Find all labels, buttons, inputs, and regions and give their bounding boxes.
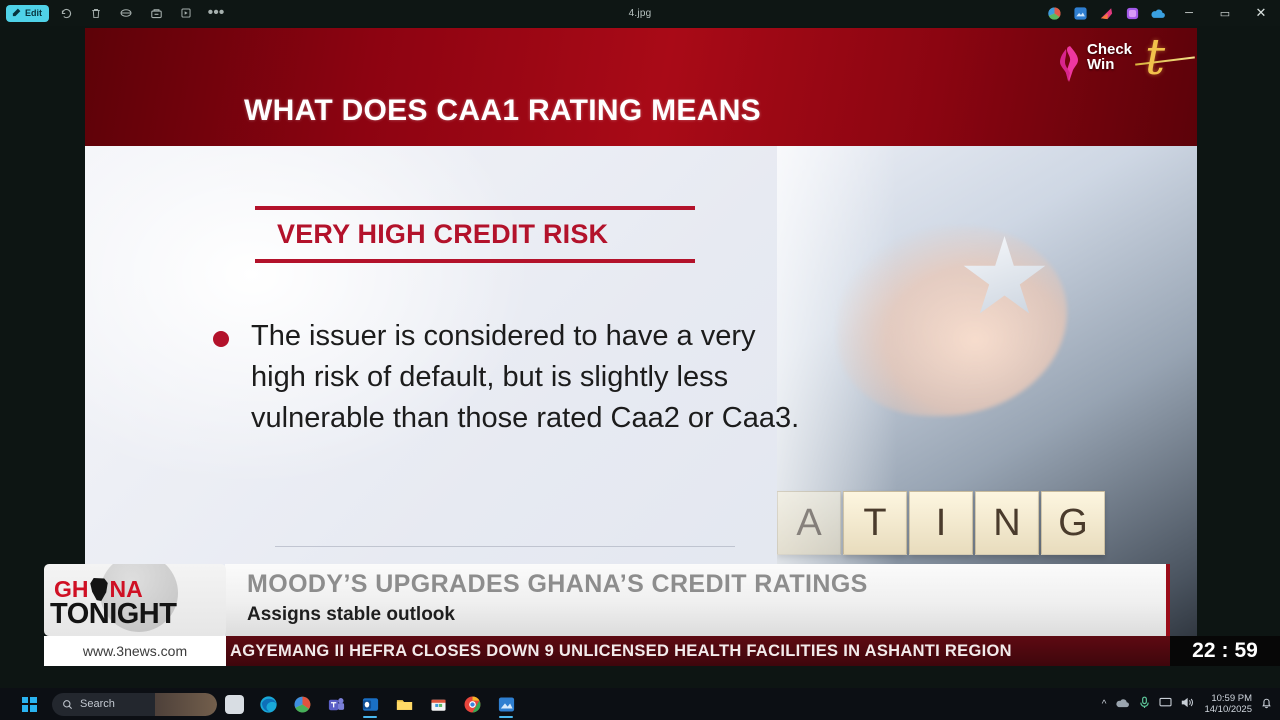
onedrive-icon[interactable] — [1115, 697, 1130, 712]
broadcast-clock: 22 : 59 — [1170, 636, 1280, 666]
edge-glyph — [259, 695, 278, 714]
image-viewer-window: Edit ••• — [0, 0, 1280, 720]
task-view-icon[interactable] — [217, 688, 251, 720]
letter-block: A — [777, 491, 841, 555]
pink-ribbon-icon — [1053, 42, 1087, 86]
copilot-glyph — [293, 695, 312, 714]
start-button[interactable] — [14, 688, 44, 720]
copilot-icon[interactable] — [285, 688, 319, 720]
clock-hours: 22 — [1192, 639, 1215, 663]
slide-divider — [275, 546, 735, 547]
store-icon[interactable] — [421, 688, 455, 720]
copilot-icon[interactable] — [1120, 1, 1144, 25]
slide-title: WHAT DOES CAA1 RATING MEANS — [244, 94, 761, 128]
ticker-text: AGYEMANG II HEFRA CLOSES DOWN 9 UNLICENS… — [226, 642, 1012, 661]
letter-block: G — [1041, 491, 1105, 555]
tray-datetime[interactable]: 10:59 PM 14/10/2025 — [1204, 693, 1252, 715]
news-subheadline: Assigns stable outlook — [247, 604, 455, 626]
news-ticker: AGYEMANG II HEFRA CLOSES DOWN 9 UNLICENS… — [226, 636, 1170, 666]
weather-widget[interactable] — [155, 693, 217, 716]
task-view-glyph — [225, 695, 244, 714]
bullet-dot-icon — [213, 331, 229, 347]
onedrive-icon[interactable] — [1146, 1, 1170, 25]
edge-icon[interactable] — [251, 688, 285, 720]
hand-graphic — [837, 226, 1067, 416]
search-placeholder: Search — [80, 698, 115, 710]
tray-date: 14/10/2025 — [1204, 704, 1252, 715]
check-win-logo: Check Win t — [1047, 36, 1187, 94]
bullet-item: The issuer is considered to have a very … — [213, 316, 813, 439]
photos-glyph — [497, 695, 516, 714]
logo-line-2: Win — [1087, 57, 1132, 72]
letter-block: I — [909, 491, 973, 555]
outlook-glyph — [361, 695, 380, 714]
windows-taskbar: Search — [0, 688, 1280, 720]
windows-logo-icon — [22, 697, 37, 712]
news-card: MOODY’S UPGRADES GHANA’S CREDIT RATINGS … — [225, 564, 1170, 636]
photos-icon[interactable] — [489, 688, 523, 720]
teams-glyph — [327, 695, 346, 714]
letter-blocks: A T I N G — [777, 491, 1105, 555]
subheading: VERY HIGH CREDIT RISK — [255, 210, 695, 259]
microphone-icon[interactable] — [1139, 696, 1150, 712]
minimize-button[interactable]: ─ — [1172, 0, 1206, 26]
website-label: www.3news.com — [44, 636, 226, 666]
search-input[interactable]: Search — [52, 693, 217, 716]
chevron-up-icon[interactable]: ^ — [1102, 699, 1107, 710]
letter-block: N — [975, 491, 1039, 555]
close-button[interactable]: ✕ — [1244, 0, 1278, 26]
ghana-tonight-logo: GH NA TONIGHT — [44, 564, 226, 636]
clock-separator: : — [1222, 639, 1229, 663]
bullet-text: The issuer is considered to have a very … — [251, 316, 813, 439]
store-glyph — [429, 695, 448, 714]
slide-banner — [85, 28, 1197, 146]
logo-line-1: Check — [1087, 42, 1132, 57]
photos-icon[interactable] — [1042, 1, 1066, 25]
outlook-icon[interactable] — [353, 688, 387, 720]
news-lower-third: MOODY’S UPGRADES GHANA’S CREDIT RATINGS … — [0, 556, 1280, 678]
chrome-icon[interactable] — [455, 688, 489, 720]
rule-bottom — [255, 259, 695, 263]
volume-icon[interactable] — [1181, 697, 1195, 711]
search-icon — [62, 699, 73, 710]
designer-icon[interactable] — [1094, 1, 1118, 25]
chrome-glyph — [463, 695, 482, 714]
brand-line-2: TONIGHT — [50, 598, 176, 631]
maximize-button[interactable]: ▭ — [1208, 0, 1242, 26]
system-tray: ^ 10:59 PM 14/10/2025 — [1102, 688, 1280, 720]
letter-block: T — [843, 491, 907, 555]
file-explorer-icon[interactable] — [387, 688, 421, 720]
network-icon[interactable] — [1159, 697, 1172, 711]
tray-time: 10:59 PM — [1204, 693, 1252, 704]
news-headline: MOODY’S UPGRADES GHANA’S CREDIT RATINGS — [247, 570, 868, 599]
notification-icon[interactable] — [1261, 697, 1272, 712]
teams-icon[interactable] — [319, 688, 353, 720]
clock-minutes: 59 — [1235, 639, 1258, 663]
subheading-block: VERY HIGH CREDIT RISK — [255, 206, 695, 263]
titlebar-right-group: ─ ▭ ✕ — [1042, 0, 1280, 26]
window-titlebar: Edit ••• — [0, 0, 1280, 26]
snip-icon[interactable] — [1068, 1, 1092, 25]
logo-script-t: t — [1145, 32, 1165, 82]
folder-glyph — [395, 695, 414, 714]
check-win-text: Check Win — [1087, 42, 1132, 72]
